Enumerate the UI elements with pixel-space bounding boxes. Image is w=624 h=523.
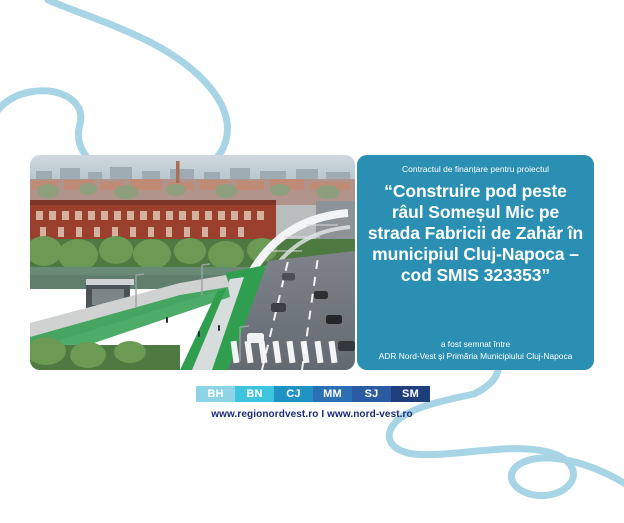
county-badge-cj[interactable]: CJ	[274, 386, 313, 402]
poster-canvas: ★ ★ ★ ★ ★ ★ ★ ★ ★ ★ ★ ★ Cofinanțat de Un…	[0, 0, 624, 523]
county-badge-sm[interactable]: SM	[391, 386, 430, 402]
project-title: “Construire pod peste râul Someșul Mic p…	[367, 181, 584, 286]
county-badge-bh[interactable]: BH	[196, 386, 235, 402]
county-badge-bn[interactable]: BN	[235, 386, 274, 402]
panel-footer-line1: a fost semnat între	[379, 338, 573, 350]
website-urls[interactable]: www.regionordvest.ro I www.nord-vest.ro	[0, 409, 624, 420]
panel-eyebrow-text: Contractul de finanțare pentru proiectul	[402, 164, 549, 175]
county-badge-sj[interactable]: SJ	[352, 386, 391, 402]
panel-footer-line2: ADR Nord-Vest și Primăria Municipiului C…	[379, 350, 573, 362]
bridge-project-photo	[30, 155, 355, 370]
panel-footer: a fost semnat între ADR Nord-Vest și Pri…	[379, 338, 573, 362]
county-badge-bar: BHBNCJMMSJSM	[196, 386, 430, 402]
logo-strip: ★ ★ ★ ★ ★ ★ ★ ★ ★ ★ ★ ★ Cofinanțat de Un…	[0, 95, 624, 153]
photo-illustration	[30, 155, 355, 370]
contract-info-panel: Contractul de finanțare pentru proiectul…	[357, 155, 594, 370]
county-badge-mm[interactable]: MM	[313, 386, 352, 402]
